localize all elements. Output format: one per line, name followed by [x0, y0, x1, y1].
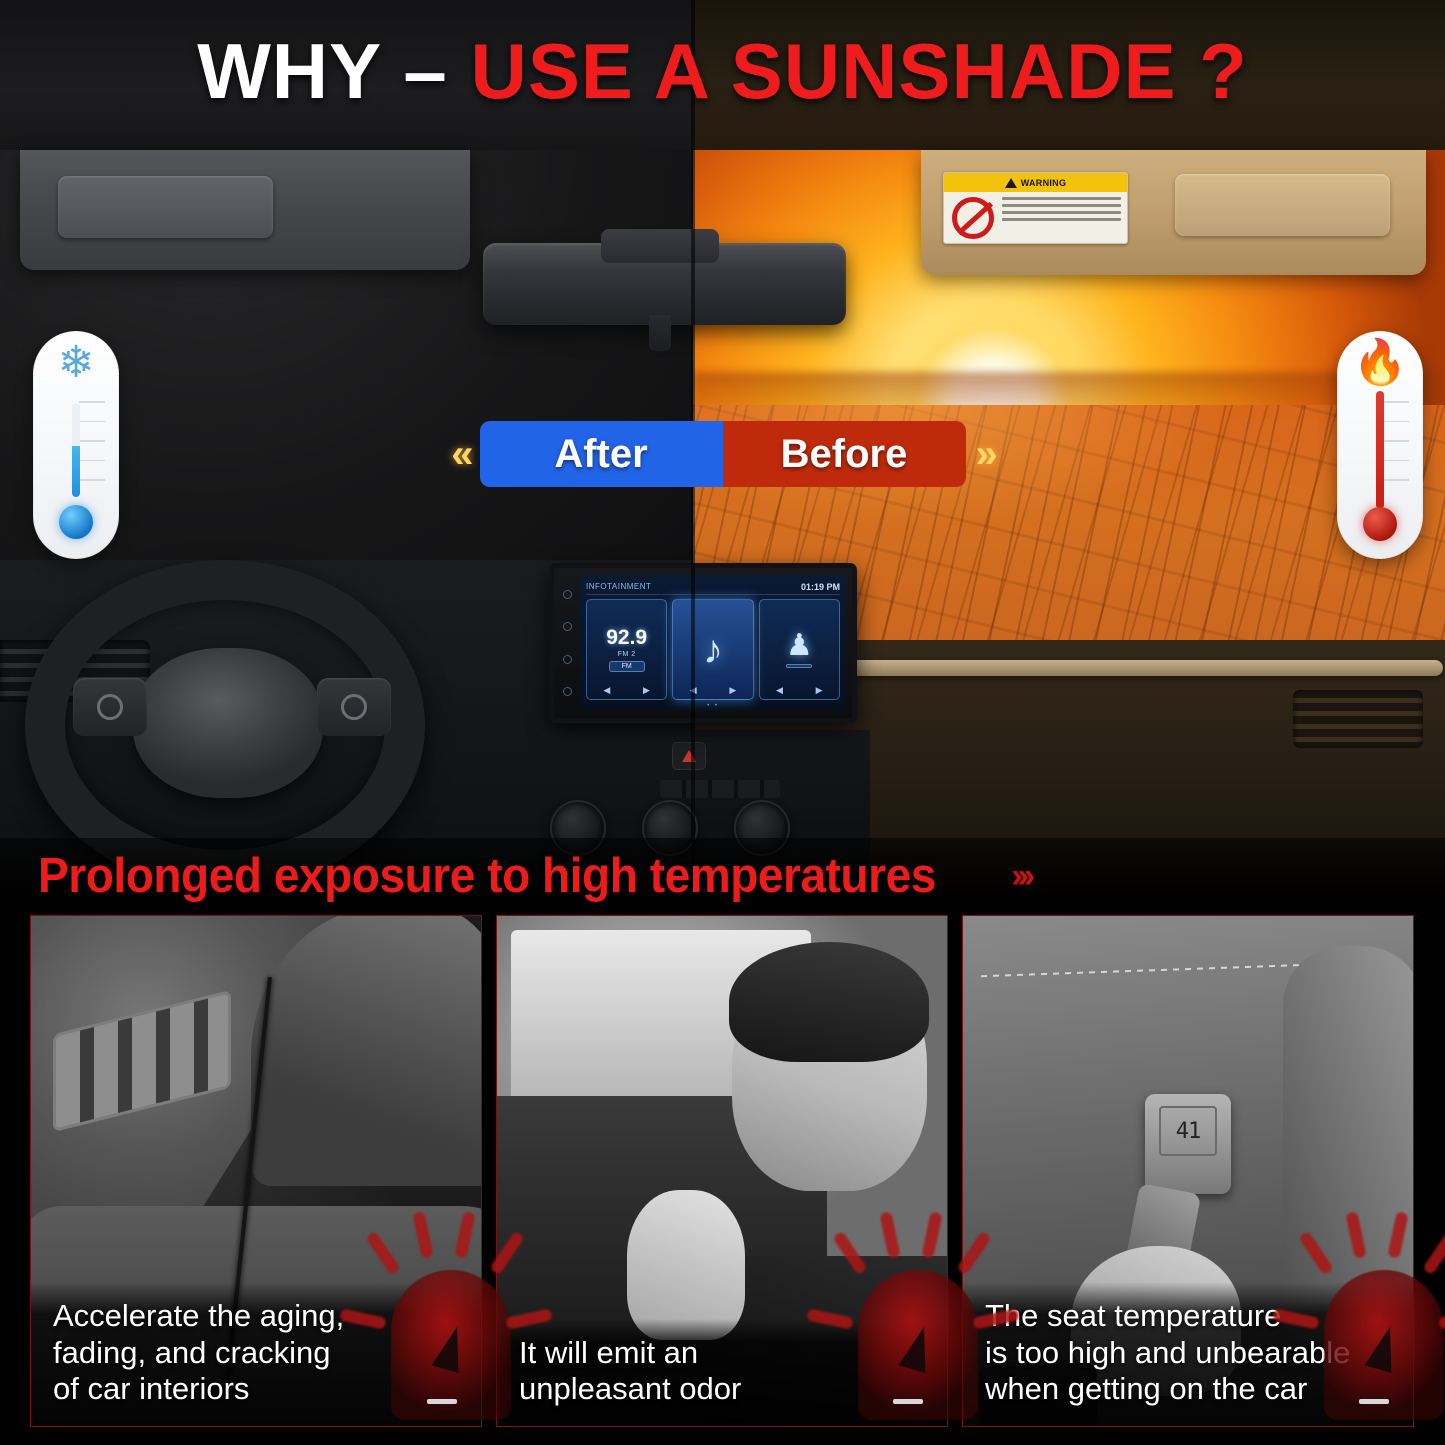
snowflake-icon: ❄: [33, 341, 119, 385]
radio-prev-icon[interactable]: ◀: [603, 685, 610, 696]
consequence-panel-row: Accelerate the aging,fading, and crackin…: [0, 915, 1445, 1445]
chevron-right-icon: »: [976, 432, 994, 477]
panel-caption-text: It will emit anunpleasant odor: [519, 1335, 929, 1408]
radio-next-icon[interactable]: ▶: [643, 685, 650, 696]
sun-visor-hot: WARNING: [921, 150, 1426, 275]
defroster-vent-shape: [53, 990, 231, 1132]
person-icon: ♟: [786, 631, 813, 661]
thermometer-bulb-hot: [1363, 507, 1397, 541]
infotainment-head-unit[interactable]: INFOTAINMENT 01:19 PM 92.9 FM 2 FM ◀ ▶: [549, 563, 857, 723]
no-child-seat-icon: [952, 197, 994, 239]
console-button-strip[interactable]: [660, 780, 780, 798]
subhead-text: Prolonged exposure to high temperatures: [38, 848, 936, 904]
head-unit-brand-label: INFOTAINMENT: [586, 582, 651, 591]
panel-caption-odor: It will emit anunpleasant odor: [497, 1319, 947, 1426]
airbag-warning-sticker: WARNING: [943, 172, 1128, 244]
warning-sticker-text-lines: [1002, 197, 1121, 225]
panel-caption-text: Accelerate the aging,fading, and crackin…: [53, 1298, 463, 1408]
music-note-icon: ♪: [703, 630, 723, 670]
caption-tick-2: [893, 1399, 923, 1404]
page-title: WHY – USE A SUNSHADE ?: [0, 26, 1445, 117]
panel-aging: Accelerate the aging,fading, and crackin…: [30, 915, 482, 1427]
profile-next-icon[interactable]: ▶: [816, 685, 823, 696]
steering-wheel-airbag-hub: [133, 648, 323, 798]
before-badge[interactable]: Before: [723, 421, 966, 487]
profile-card[interactable]: ♟ ◀ ▶: [759, 599, 840, 700]
head-unit-button-menu[interactable]: [563, 687, 572, 696]
head-unit-card-row: 92.9 FM 2 FM ◀ ▶ ♪ ◀ ▶: [586, 599, 840, 700]
radio-tuning-arrows[interactable]: ◀ ▶: [587, 685, 666, 696]
head-unit-screen[interactable]: INFOTAINMENT 01:19 PM 92.9 FM 2 FM ◀ ▶: [580, 575, 846, 710]
person-hand-shape: [627, 1190, 745, 1340]
head-unit-page-dots: • •: [580, 703, 846, 709]
panel-odor: It will emit anunpleasant odor: [496, 915, 948, 1427]
visor-mirror-lid-hot: [1175, 174, 1390, 236]
radio-frequency: 92.9: [606, 627, 647, 648]
sun-visor-cool: [20, 150, 470, 270]
radio-band-label: FM 2: [618, 651, 636, 658]
air-vent-right: [1293, 690, 1423, 748]
panel-caption-aging: Accelerate the aging,fading, and crackin…: [31, 1282, 481, 1426]
radio-preset-pill[interactable]: FM: [609, 661, 645, 672]
head-unit-button-volume[interactable]: [563, 655, 572, 664]
seat-back-shape: [251, 915, 482, 1186]
infographic-canvas: WARNING: [0, 0, 1445, 1445]
panel-caption-seat-temp: The seat temperatureis too high and unbe…: [963, 1282, 1413, 1426]
dashboard-chrome-trim: [843, 660, 1443, 676]
profile-arrows[interactable]: ◀ ▶: [760, 685, 839, 696]
media-next-icon[interactable]: ▶: [729, 685, 736, 696]
chevron-triple-icon: ›››: [1011, 857, 1030, 896]
media-transport-arrows[interactable]: ◀ ▶: [673, 685, 752, 696]
radio-card[interactable]: 92.9 FM 2 FM ◀ ▶: [586, 599, 667, 700]
head-unit-status-bar: INFOTAINMENT 01:19 PM: [586, 579, 840, 595]
rear-view-mirror: [483, 243, 846, 325]
profile-prev-icon[interactable]: ◀: [776, 685, 783, 696]
steering-control-pad-left: [73, 678, 147, 736]
steering-control-pad-right: [317, 678, 391, 736]
page-title-white: WHY –: [197, 27, 448, 115]
ir-thermometer-reading: 41: [1176, 1119, 1201, 1144]
caption-tick-3: [1359, 1399, 1389, 1404]
chevron-left-icon: «: [451, 432, 469, 477]
page-title-red: USE A SUNSHADE ?: [470, 27, 1247, 115]
before-after-badge-row: « After Before »: [0, 418, 1445, 490]
mirror-mount-hump: [601, 229, 719, 263]
subhead-banner: Prolonged exposure to high temperatures …: [0, 838, 1445, 914]
visor-mirror-lid-cool: [58, 176, 273, 238]
ir-thermometer-display: 41: [1159, 1106, 1217, 1156]
media-card[interactable]: ♪ ◀ ▶: [672, 599, 753, 700]
flame-icon: 🔥: [1337, 341, 1423, 385]
warning-sticker-title: WARNING: [1021, 178, 1067, 188]
head-unit-button-power[interactable]: [563, 590, 572, 599]
person-hair-shape: [729, 942, 929, 1062]
panel-seat-temp: 41 The seat temperatureis too high and u…: [962, 915, 1414, 1427]
profile-pill[interactable]: [786, 664, 812, 668]
warning-triangle-icon: [1005, 178, 1017, 188]
after-badge[interactable]: After: [480, 421, 723, 487]
head-unit-clock: 01:19 PM: [801, 582, 840, 592]
warning-sticker-bar: WARNING: [944, 173, 1127, 192]
head-unit-hard-buttons[interactable]: [559, 578, 575, 708]
mirror-stem: [649, 315, 671, 351]
head-unit-button-home[interactable]: [563, 622, 572, 631]
hazard-light-button[interactable]: [672, 742, 706, 770]
thermometer-bulb-cold: [59, 505, 93, 539]
caption-tick-1: [427, 1399, 457, 1404]
panel-caption-text: The seat temperatureis too high and unbe…: [985, 1298, 1395, 1408]
